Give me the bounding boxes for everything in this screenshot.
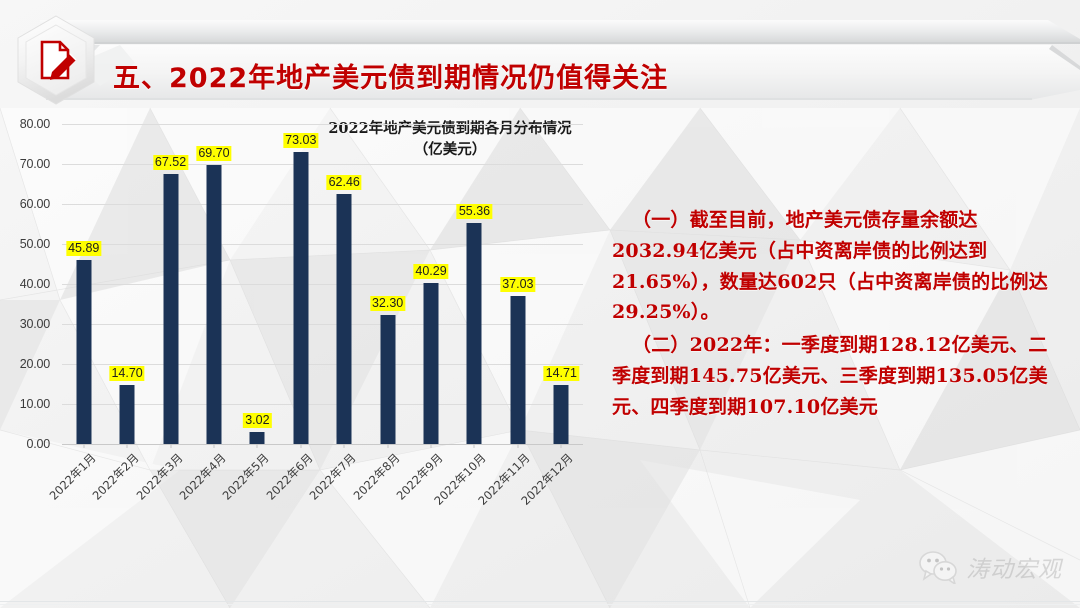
bar <box>120 385 135 444</box>
bar-value-label: 37.03 <box>500 277 535 292</box>
y-axis-labels: 0.0010.0020.0030.0040.0050.0060.0070.008… <box>0 124 56 444</box>
y-axis-tick-label: 60.00 <box>20 197 50 211</box>
y-axis-tick-label: 0.00 <box>26 437 50 451</box>
bar <box>510 296 525 444</box>
page-title: 五、2022年地产美元债到期情况仍值得关注 <box>113 56 668 95</box>
bar <box>206 165 221 444</box>
y-axis-tick-label: 10.00 <box>20 397 50 411</box>
header-ribbon <box>0 8 1080 106</box>
document-edit-icon <box>42 42 76 80</box>
bar <box>554 385 569 444</box>
bar-value-label: 40.29 <box>413 264 448 279</box>
bar-value-label: 55.36 <box>457 204 492 219</box>
bar-group: 32.30 <box>366 124 409 444</box>
bar-group: 3.02 <box>236 124 279 444</box>
bar <box>467 223 482 444</box>
watermark-text: 涛动宏观 <box>966 550 1062 584</box>
y-axis-tick-label: 40.00 <box>20 277 50 291</box>
bar-value-label: 3.02 <box>243 413 271 428</box>
bar-group: 37.03 <box>496 124 539 444</box>
chart-bars: 45.8914.7067.5269.703.0273.0362.4632.304… <box>62 124 583 444</box>
commentary-block: （一）截至目前，地产美元债存量余额达2032.94亿美元（占中资离岸债的比例达到… <box>612 205 1064 422</box>
commentary-paragraph-1: （一）截至目前，地产美元债存量余额达2032.94亿美元（占中资离岸债的比例达到… <box>612 205 1064 328</box>
bar-value-label: 62.46 <box>327 175 362 190</box>
bar-value-label: 73.03 <box>283 133 318 148</box>
x-axis-labels: 2022年1月2022年2月2022年3月2022年4月2022年5月2022年… <box>62 444 583 514</box>
bar-value-label: 14.70 <box>109 366 144 381</box>
bar-value-label: 14.71 <box>544 366 579 381</box>
bar-value-label: 69.70 <box>196 146 231 161</box>
bar <box>76 260 91 444</box>
x-axis-tick-label: 2022年3月 <box>132 450 185 503</box>
y-axis-tick-label: 30.00 <box>20 317 50 331</box>
bar <box>250 432 265 444</box>
slide-canvas: 五、2022年地产美元债到期情况仍值得关注 2022年地产美元债到期各月分布情况… <box>0 0 1080 608</box>
bottom-divider-secondary <box>0 604 1080 605</box>
bar-group: 40.29 <box>409 124 452 444</box>
bar-group: 14.71 <box>540 124 583 444</box>
bar <box>337 194 352 444</box>
bar-value-label: 45.89 <box>66 241 101 256</box>
bar-group: 45.89 <box>62 124 105 444</box>
x-axis-tick-label: 2022年6月 <box>263 450 316 503</box>
x-axis-tick-label: 2022年8月 <box>349 450 402 503</box>
bar <box>424 283 439 444</box>
bar <box>163 174 178 444</box>
y-axis-tick-label: 70.00 <box>20 157 50 171</box>
bottom-divider <box>0 601 1080 602</box>
bar-value-label: 67.52 <box>153 155 188 170</box>
y-axis-tick-label: 20.00 <box>20 357 50 371</box>
header-badge <box>14 14 98 106</box>
wechat-icon <box>918 550 958 584</box>
x-axis-tick-label: 2022年5月 <box>219 450 272 503</box>
slide-header: 五、2022年地产美元债到期情况仍值得关注 <box>0 8 1080 106</box>
bar <box>293 152 308 444</box>
bar-group: 73.03 <box>279 124 322 444</box>
bar-group: 67.52 <box>149 124 192 444</box>
x-axis-tick-label: 2022年7月 <box>306 450 359 503</box>
bar-group: 14.70 <box>105 124 148 444</box>
bar-value-label: 32.30 <box>370 296 405 311</box>
watermark: 涛动宏观 <box>918 550 1062 584</box>
commentary-paragraph-2: （二）2022年：一季度到期128.12亿美元、二季度到期145.75亿美元、三… <box>612 330 1064 422</box>
y-axis-tick-label: 80.00 <box>20 117 50 131</box>
bar-chart: 2022年地产美元债到期各月分布情况 （亿美元） 0.0010.0020.003… <box>0 112 600 512</box>
bar-group: 55.36 <box>453 124 496 444</box>
x-axis-tick-label: 2022年1月 <box>46 450 99 503</box>
bar <box>380 315 395 444</box>
bar-group: 69.70 <box>192 124 235 444</box>
y-axis-tick-label: 50.00 <box>20 237 50 251</box>
bar-group: 62.46 <box>323 124 366 444</box>
